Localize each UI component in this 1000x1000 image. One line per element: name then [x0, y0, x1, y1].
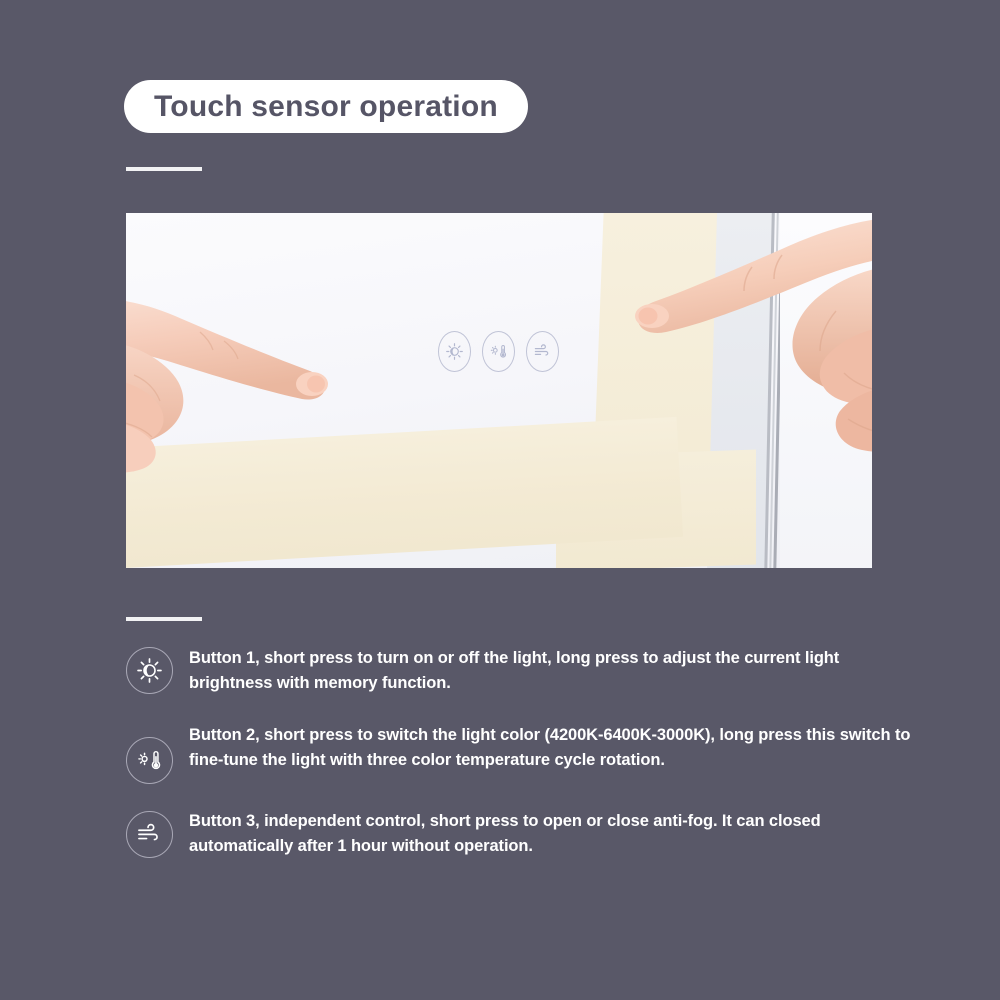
touch-button-anti-fog[interactable] — [526, 331, 559, 372]
list-item-text: Button 1, short press to turn on or off … — [189, 645, 916, 696]
list-item: Button 2, short press to switch the ligh… — [126, 722, 916, 784]
page-title-pill: Touch sensor operation — [124, 80, 528, 133]
product-photo — [126, 213, 872, 568]
color-temperature-thermometer-icon — [489, 342, 508, 361]
bullet-icon-brightness — [126, 647, 173, 694]
color-temperature-thermometer-icon — [136, 747, 163, 774]
divider-top — [126, 167, 202, 171]
touch-sensor-button-row — [438, 331, 559, 372]
divider-middle — [126, 617, 202, 621]
list-item-text: Button 3, independent control, short pre… — [189, 808, 916, 859]
bullet-icon-anti-fog — [126, 811, 173, 858]
bullet-icon-color-temperature — [126, 737, 173, 784]
touch-button-color-temperature[interactable] — [482, 331, 515, 372]
list-item-text: Button 2, short press to switch the ligh… — [189, 722, 916, 773]
feature-list: Button 1, short press to turn on or off … — [126, 645, 916, 885]
list-item: Button 1, short press to turn on or off … — [126, 645, 916, 696]
right-hand-pointing — [586, 213, 872, 465]
brightness-sun-icon — [445, 342, 464, 361]
anti-fog-wind-icon — [136, 821, 163, 848]
brightness-sun-icon — [136, 657, 163, 684]
page-title: Touch sensor operation — [154, 90, 498, 124]
list-item: Button 3, independent control, short pre… — [126, 808, 916, 859]
touch-button-brightness[interactable] — [438, 331, 471, 372]
left-hand-pointing — [126, 271, 404, 491]
anti-fog-wind-icon — [533, 342, 552, 361]
